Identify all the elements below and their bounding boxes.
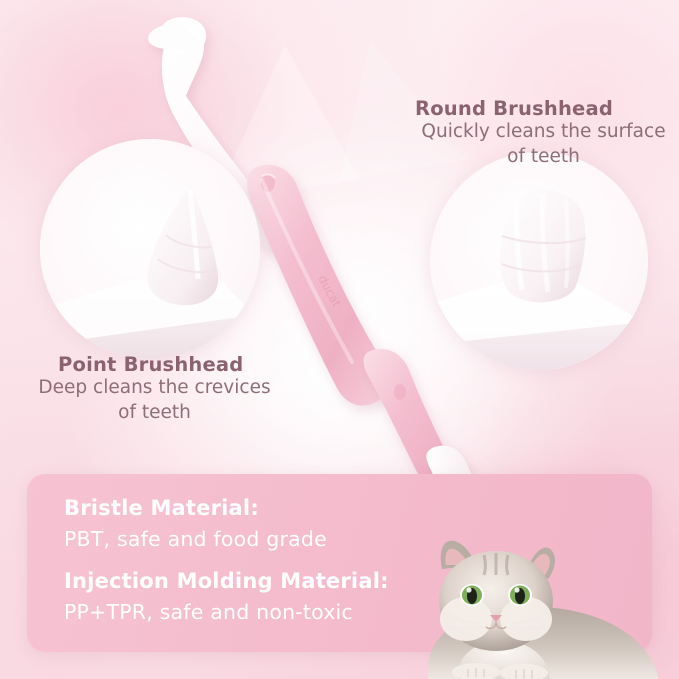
- callout-circle-round-brushhead: [430, 152, 648, 370]
- round-brushhead-body-line1: Quickly cleans the surface: [415, 120, 670, 145]
- label-point-brushhead: Point Brushhead Deep cleans the crevices…: [22, 353, 287, 426]
- injection-material-body: PP+TPR, safe and non-toxic: [64, 600, 389, 624]
- cat-photo: [406, 499, 671, 679]
- bristle-material-body: PBT, safe and food grade: [64, 527, 327, 551]
- injection-material-title: Injection Molding Material:: [64, 569, 389, 593]
- callout-circle-point-brushhead: [40, 139, 260, 359]
- material-item-bristle: Bristle Material: PBT, safe and food gra…: [64, 496, 327, 551]
- round-brushhead-zoom-image: [430, 152, 648, 370]
- point-brushhead-body-line1: Deep cleans the crevices: [22, 376, 287, 401]
- product-infographic: ducat: [0, 0, 679, 679]
- label-round-brushhead: Round Brushhead Quickly cleans the surfa…: [415, 97, 670, 170]
- point-brushhead-title: Point Brushhead: [22, 353, 287, 376]
- material-item-injection: Injection Molding Material: PP+TPR, safe…: [64, 569, 389, 624]
- bristle-material-title: Bristle Material:: [64, 496, 327, 520]
- round-brushhead-body-line2: of teeth: [415, 145, 670, 170]
- point-brushhead-body-line2: of teeth: [22, 401, 287, 426]
- point-brushhead-zoom-image: [40, 139, 260, 359]
- round-brushhead-title: Round Brushhead: [415, 97, 670, 120]
